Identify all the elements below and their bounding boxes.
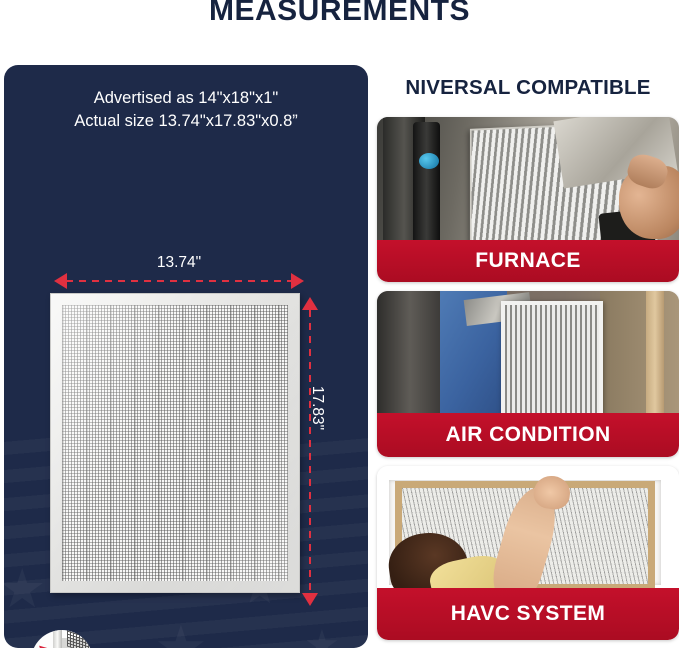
advertised-size-text: Advertised as 14"x18"x1" <box>4 87 368 110</box>
use-case-card-havc-system: HAVC SYSTEM <box>377 466 679 640</box>
width-dimension-label: 13.74" <box>54 254 304 272</box>
width-dimension-line <box>66 280 291 282</box>
actual-size-text: Actual size 13.74"x17.83"x0.8” <box>4 110 368 133</box>
card-label-havc-system: HAVC SYSTEM <box>377 588 679 640</box>
size-disclaimer: Advertised as 14"x18"x1" Actual size 13.… <box>4 87 368 134</box>
furnace-pipe <box>413 122 440 247</box>
card-label-furnace: FURNACE <box>377 240 679 282</box>
arrow-head-icon <box>35 641 51 648</box>
use-case-card-air-condition: AIR CONDITION <box>377 291 679 457</box>
filter-gloss-overlay <box>51 294 299 592</box>
filter-edge-detail <box>53 630 62 648</box>
compatibility-heading: NIVERSAL COMPATIBLE <box>377 76 679 100</box>
use-case-card-furnace: FURNACE <box>377 117 679 282</box>
flag-star-icon: ★ <box>154 618 208 648</box>
furnace-photo <box>377 117 679 247</box>
page-title: MEASUREMENTS <box>0 0 679 28</box>
arrow-up-icon <box>302 297 318 310</box>
arrow-down-icon <box>302 593 318 606</box>
arrow-left-icon <box>54 273 67 289</box>
ac-dark-panel <box>377 291 443 420</box>
flag-star-icon: ★ <box>4 562 46 616</box>
flag-star-icon: ★ <box>304 625 340 648</box>
ac-wall <box>600 291 679 420</box>
ac-filter-element <box>501 301 604 420</box>
measurements-panel: ★ ★ ★ ★ ★ ★ Advertised as 14"x18"x1" Act… <box>4 65 368 648</box>
arrow-right-icon <box>291 273 304 289</box>
air-filter-product-image <box>50 293 300 593</box>
height-dimension-label: 17.83" <box>308 386 326 430</box>
air-conditioner-photo <box>377 291 679 420</box>
havc-photo <box>377 466 679 594</box>
height-dimension-line <box>309 310 311 595</box>
card-label-air-condition: AIR CONDITION <box>377 413 679 457</box>
ac-wood-stud <box>646 291 664 420</box>
